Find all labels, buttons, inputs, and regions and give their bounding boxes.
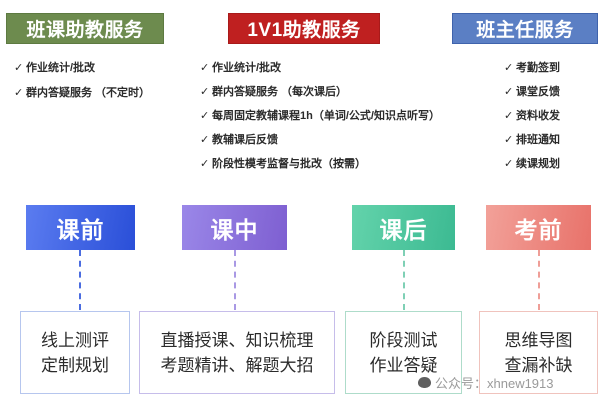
stage-label-pre-exam: 考前	[515, 211, 563, 245]
detail-line: 定制规划	[41, 353, 109, 378]
badge-one-on-one-label: 1V1助教服务	[247, 15, 360, 42]
list-item: ✓ 群内答疑服务 （不定时）	[14, 87, 204, 100]
detail-line: 直播授课、知识梳理	[161, 328, 314, 353]
detail-line: 线上测评	[41, 328, 109, 353]
list-item: ✓ 续课规划	[504, 158, 604, 171]
list-item-label: 教辅课后反馈	[212, 134, 480, 147]
stage-label-in-class: 课中	[211, 211, 259, 245]
check-icon: ✓	[200, 158, 212, 171]
list-item-label: 作业统计/批改	[26, 62, 204, 75]
detail-box-pre-class: 线上测评 定制规划	[20, 311, 130, 394]
detail-box-pre-exam: 思维导图 查漏补缺	[479, 311, 598, 394]
list-item-label: 资料收发	[516, 110, 604, 123]
check-icon: ✓	[504, 158, 516, 171]
list-item-label: 每周固定教辅课程1h（单词/公式/知识点听写）	[212, 110, 480, 123]
detail-line: 查漏补缺	[505, 353, 573, 378]
connector-line-in-class	[234, 250, 236, 310]
list-item: ✓ 资料收发	[504, 110, 604, 123]
check-icon: ✓	[200, 110, 212, 123]
detail-box-after-class: 阶段测试 作业答疑	[345, 311, 462, 394]
badge-head-teacher-label: 班主任服务	[476, 15, 574, 42]
stage-label-after-class: 课后	[380, 211, 428, 245]
list-item: ✓ 课堂反馈	[504, 86, 604, 99]
stage-box-after-class: 课后	[352, 205, 455, 250]
stage-box-pre-class: 课前	[26, 205, 135, 250]
list-item: ✓ 考勤签到	[504, 62, 604, 75]
detail-box-in-class: 直播授课、知识梳理 考题精讲、解题大招	[139, 311, 335, 394]
checklist-class-assistant: ✓ 作业统计/批改 ✓ 群内答疑服务 （不定时）	[14, 62, 204, 112]
connector-line-after-class	[403, 250, 405, 310]
checklist-head-teacher: ✓ 考勤签到 ✓ 课堂反馈 ✓ 资料收发 ✓ 排班通知 ✓ 续课规划	[504, 62, 604, 182]
check-icon: ✓	[14, 62, 26, 75]
list-item-label: 续课规划	[516, 158, 604, 171]
stage-box-in-class: 课中	[182, 205, 287, 250]
check-icon: ✓	[14, 87, 26, 100]
list-item-label: 排班通知	[516, 134, 604, 147]
check-icon: ✓	[200, 134, 212, 147]
detail-line: 思维导图	[505, 328, 573, 353]
checklist-one-on-one: ✓ 作业统计/批改 ✓ 群内答疑服务 （每次课后） ✓ 每周固定教辅课程1h（单…	[200, 62, 480, 182]
list-item: ✓ 群内答疑服务 （每次课后）	[200, 86, 480, 99]
check-icon: ✓	[504, 134, 516, 147]
list-item: ✓ 阶段性模考监督与批改（按需）	[200, 158, 480, 171]
check-icon: ✓	[200, 86, 212, 99]
check-icon: ✓	[200, 62, 212, 75]
stage-box-pre-exam: 考前	[486, 205, 591, 250]
list-item: ✓ 作业统计/批改	[14, 62, 204, 75]
list-item-label: 作业统计/批改	[212, 62, 480, 75]
connector-line-pre-exam	[538, 250, 540, 310]
check-icon: ✓	[504, 62, 516, 75]
stage-label-pre-class: 课前	[57, 211, 105, 245]
detail-line: 考题精讲、解题大招	[161, 353, 314, 378]
badge-class-assistant-label: 班课助教服务	[26, 15, 143, 42]
list-item: ✓ 每周固定教辅课程1h（单词/公式/知识点听写）	[200, 110, 480, 123]
detail-line: 作业答疑	[370, 353, 438, 378]
list-item: ✓ 教辅课后反馈	[200, 134, 480, 147]
badge-head-teacher: 班主任服务	[452, 13, 598, 44]
infographic-canvas: 班课助教服务 1V1助教服务 班主任服务 ✓ 作业统计/批改 ✓ 群内答疑服务 …	[0, 0, 606, 400]
list-item-label: 群内答疑服务 （不定时）	[26, 87, 204, 100]
badge-class-assistant: 班课助教服务	[6, 13, 164, 44]
list-item: ✓ 排班通知	[504, 134, 604, 147]
badge-one-on-one: 1V1助教服务	[228, 13, 380, 44]
list-item: ✓ 作业统计/批改	[200, 62, 480, 75]
connector-line-pre-class	[79, 250, 81, 310]
detail-line: 阶段测试	[370, 328, 438, 353]
list-item-label: 课堂反馈	[516, 86, 604, 99]
list-item-label: 群内答疑服务 （每次课后）	[212, 86, 480, 99]
check-icon: ✓	[504, 86, 516, 99]
list-item-label: 阶段性模考监督与批改（按需）	[212, 158, 480, 171]
list-item-label: 考勤签到	[516, 62, 604, 75]
check-icon: ✓	[504, 110, 516, 123]
